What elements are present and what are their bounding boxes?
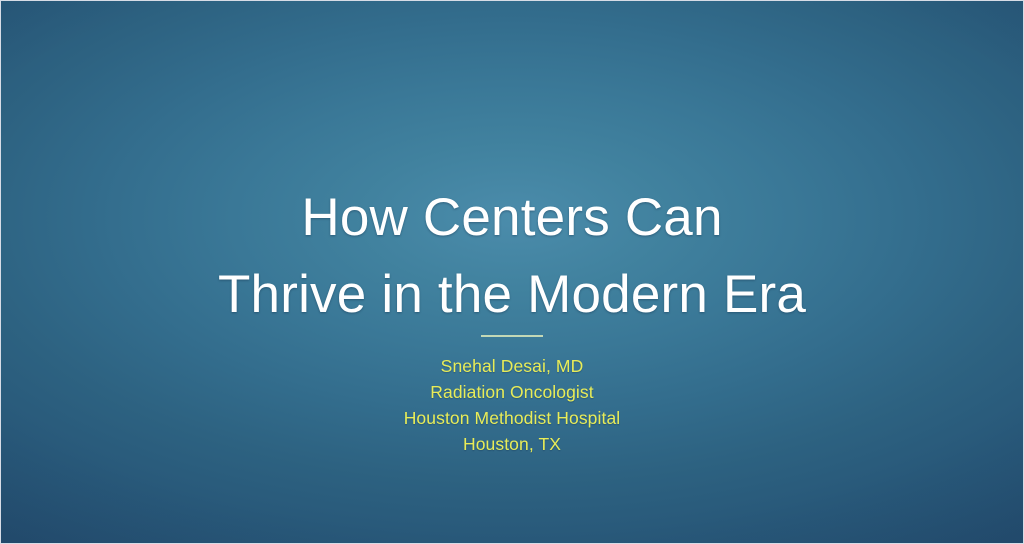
slide-title-line-1: How Centers Can — [25, 179, 999, 256]
title-divider — [1, 335, 1023, 337]
slide-content: How Centers Can Thrive in the Modern Era… — [1, 1, 1023, 543]
presenter-location: Houston, TX — [25, 431, 999, 457]
slide-title-line-2: Thrive in the Modern Era — [25, 256, 999, 333]
slide-title: How Centers Can Thrive in the Modern Era — [1, 179, 1023, 333]
divider-rule — [481, 335, 543, 337]
slide-subtitle: Snehal Desai, MD Radiation Oncologist Ho… — [1, 353, 1023, 457]
title-slide: How Centers Can Thrive in the Modern Era… — [0, 0, 1024, 544]
presenter-name: Snehal Desai, MD — [25, 353, 999, 379]
presenter-role: Radiation Oncologist — [25, 379, 999, 405]
presenter-institution: Houston Methodist Hospital — [25, 405, 999, 431]
